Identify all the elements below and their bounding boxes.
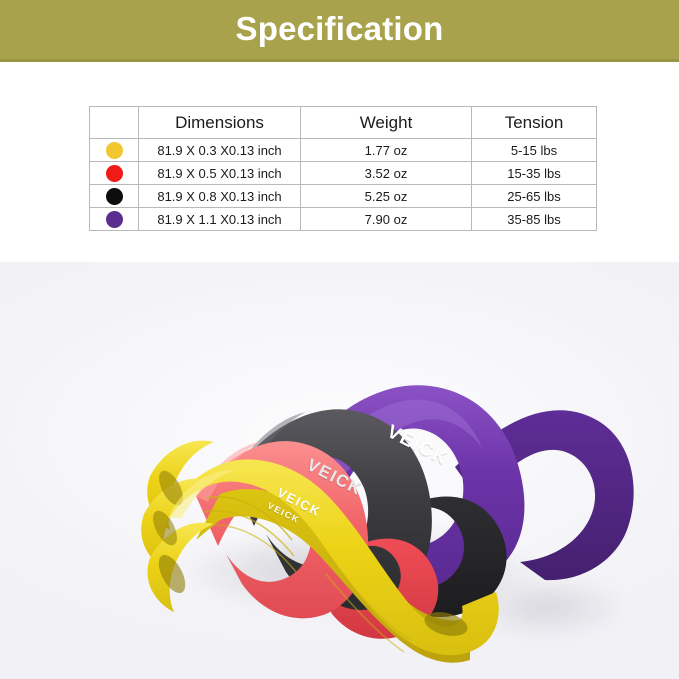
table-row: 81.9 X 0.8 X0.13 inch 5.25 oz 25-65 lbs	[90, 185, 597, 208]
color-swatch-cell	[90, 185, 139, 208]
cell-tension: 25-65 lbs	[472, 185, 597, 208]
cell-weight: 3.52 oz	[301, 162, 472, 185]
specification-table: Dimensions Weight Tension 81.9 X 0.3 X0.…	[89, 106, 597, 231]
color-swatch-cell	[90, 162, 139, 185]
color-swatch-icon	[106, 142, 123, 159]
cell-tension: 15-35 lbs	[472, 162, 597, 185]
cell-dimensions: 81.9 X 1.1 X0.13 inch	[139, 208, 301, 231]
cell-dimensions: 81.9 X 0.3 X0.13 inch	[139, 139, 301, 162]
cell-dimensions: 81.9 X 0.8 X0.13 inch	[139, 185, 301, 208]
table-header-row: Dimensions Weight Tension	[90, 107, 597, 139]
table-row: 81.9 X 0.5 X0.13 inch 3.52 oz 15-35 lbs	[90, 162, 597, 185]
column-header-dimensions: Dimensions	[139, 107, 301, 139]
table-row: 81.9 X 0.3 X0.13 inch 1.77 oz 5-15 lbs	[90, 139, 597, 162]
color-swatch-icon	[106, 211, 123, 228]
photo-stage: VEICK VEICK VEICK VEICK	[0, 262, 679, 679]
color-swatch-icon	[106, 165, 123, 182]
cell-weight: 1.77 oz	[301, 139, 472, 162]
cell-dimensions: 81.9 X 0.5 X0.13 inch	[139, 162, 301, 185]
cell-tension: 35-85 lbs	[472, 208, 597, 231]
header-banner: Specification	[0, 0, 679, 62]
page-title: Specification	[236, 12, 444, 45]
column-header-tension: Tension	[472, 107, 597, 139]
column-header-color	[90, 107, 139, 139]
color-swatch-icon	[106, 188, 123, 205]
color-swatch-cell	[90, 208, 139, 231]
specification-table-wrapper: Dimensions Weight Tension 81.9 X 0.3 X0.…	[89, 106, 596, 231]
product-photo: VEICK VEICK VEICK VEICK	[0, 262, 679, 679]
table-row: 81.9 X 1.1 X0.13 inch 7.90 oz 35-85 lbs	[90, 208, 597, 231]
cell-weight: 7.90 oz	[301, 208, 472, 231]
color-swatch-cell	[90, 139, 139, 162]
cell-tension: 5-15 lbs	[472, 139, 597, 162]
cell-weight: 5.25 oz	[301, 185, 472, 208]
column-header-weight: Weight	[301, 107, 472, 139]
